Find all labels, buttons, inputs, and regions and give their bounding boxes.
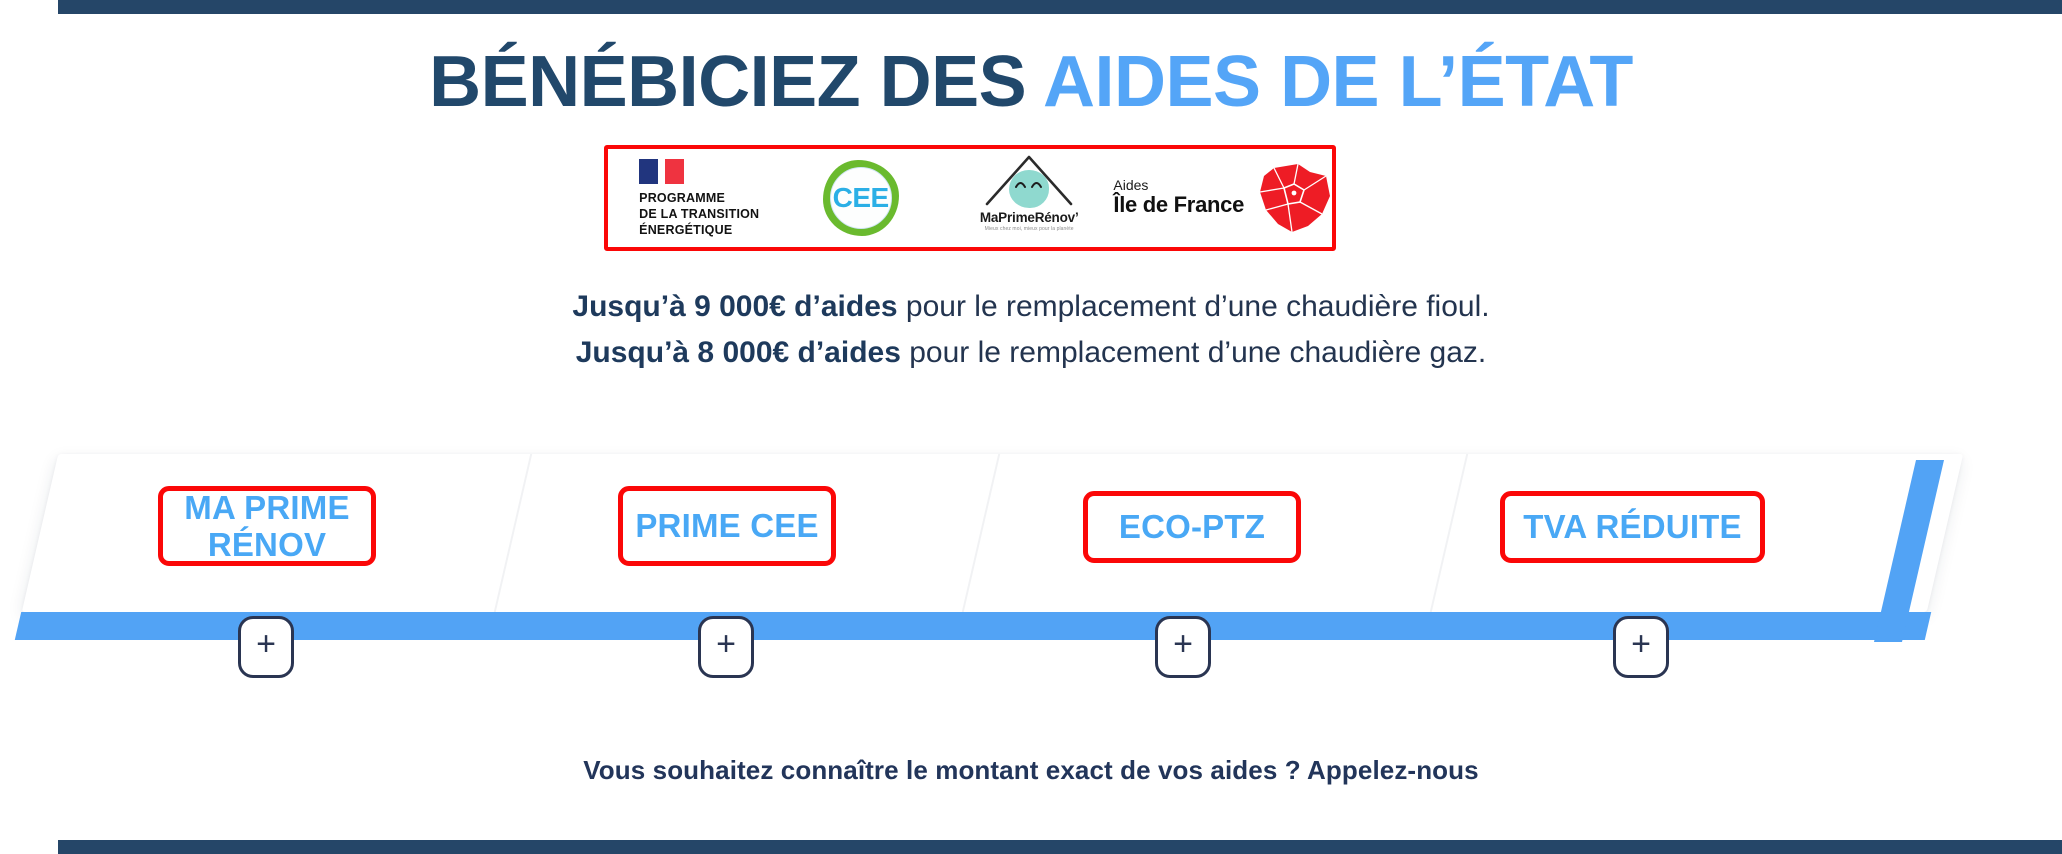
cee-label: CEE xyxy=(833,182,889,214)
aids-band: MA PRIME RÉNOV + PRIME CEE + ECO-PTZ + T… xyxy=(0,448,2062,660)
aid-badge-prime-cee-label: PRIME CEE xyxy=(635,507,818,544)
plus-icon: + xyxy=(256,627,276,661)
call-to-action-text: Vous souhaitez connaître le montant exac… xyxy=(0,755,2062,786)
aid-line-gaz-amount: Jusqu’à 8 000€ d’aides xyxy=(576,336,901,369)
pte-line-3: ÉNERGÉTIQUE xyxy=(639,222,759,238)
aid-expand-button-eco-ptz[interactable]: + xyxy=(1155,616,1211,678)
aid-badge-tva-reduite[interactable]: TVA RÉDUITE xyxy=(1500,491,1765,563)
top-divider-bar xyxy=(58,0,2062,14)
plus-icon: + xyxy=(1173,627,1193,661)
partner-logo-strip: PROGRAMME DE LA TRANSITION ÉNERGÉTIQUE C… xyxy=(604,145,1336,251)
pte-line-2: DE LA TRANSITION xyxy=(639,206,759,222)
aid-badge-eco-ptz[interactable]: ECO-PTZ xyxy=(1083,491,1301,563)
logo-programme-transition-energetique: PROGRAMME DE LA TRANSITION ÉNERGÉTIQUE xyxy=(608,149,776,247)
bottom-divider-bar xyxy=(58,840,2062,854)
aides-etat-page: BÉNÉBICIEZ DES AIDES DE L’ÉTAT PROGRAMME… xyxy=(0,0,2062,854)
page-title: BÉNÉBICIEZ DES AIDES DE L’ÉTAT xyxy=(0,46,2062,118)
aid-badge-eco-ptz-label: ECO-PTZ xyxy=(1119,508,1265,545)
maprimerenov-label: MaPrimeRénov’ xyxy=(980,210,1079,225)
logo-maprimerenov: MaPrimeRénov’ Mieux chez moi, mieux pour… xyxy=(945,149,1113,247)
aid-line-gaz: Jusqu’à 8 000€ d’aides pour le remplacem… xyxy=(0,330,2062,376)
aid-line-gaz-rest: pour le remplacement d’une chaudière gaz… xyxy=(901,336,1486,369)
plus-icon: + xyxy=(1631,627,1651,661)
aid-badge-ma-prime-renov[interactable]: MA PRIME RÉNOV xyxy=(158,486,376,566)
aid-expand-button-ma-prime-renov[interactable]: + xyxy=(238,616,294,678)
cee-badge-icon: CEE xyxy=(823,160,899,236)
aid-expand-button-prime-cee[interactable]: + xyxy=(698,616,754,678)
aid-line-fioul-rest: pour le remplacement d’une chaudière fio… xyxy=(898,290,1490,323)
aid-badge-ma-prime-renov-label: MA PRIME RÉNOV xyxy=(173,489,361,564)
pte-line-1: PROGRAMME xyxy=(639,190,759,206)
idf-big-label: Île de France xyxy=(1113,193,1244,218)
aid-amount-lines: Jusqu’à 9 000€ d’aides pour le remplacem… xyxy=(0,284,2062,375)
aid-expand-button-tva-reduite[interactable]: + xyxy=(1613,616,1669,678)
page-title-dark-part: BÉNÉBICIEZ DES xyxy=(429,42,1043,122)
aid-line-fioul: Jusqu’à 9 000€ d’aides pour le remplacem… xyxy=(0,284,2062,330)
aid-line-fioul-amount: Jusqu’à 9 000€ d’aides xyxy=(572,290,897,323)
logo-aides-ile-de-france: Aides Île de France xyxy=(1113,149,1332,247)
idf-small-label: Aides xyxy=(1113,178,1244,193)
page-title-light-part: AIDES DE L’ÉTAT xyxy=(1043,42,1633,122)
maprimerenov-tagline: Mieux chez moi, mieux pour la planète xyxy=(985,226,1074,232)
maprimerenov-house-icon xyxy=(983,152,1075,208)
plus-icon: + xyxy=(716,627,736,661)
logo-cee: CEE xyxy=(776,149,944,247)
french-flag-icon xyxy=(639,159,684,184)
ile-de-france-map-icon xyxy=(1254,162,1332,234)
aid-badge-tva-reduite-label: TVA RÉDUITE xyxy=(1523,508,1742,545)
aid-badge-prime-cee[interactable]: PRIME CEE xyxy=(618,486,836,566)
